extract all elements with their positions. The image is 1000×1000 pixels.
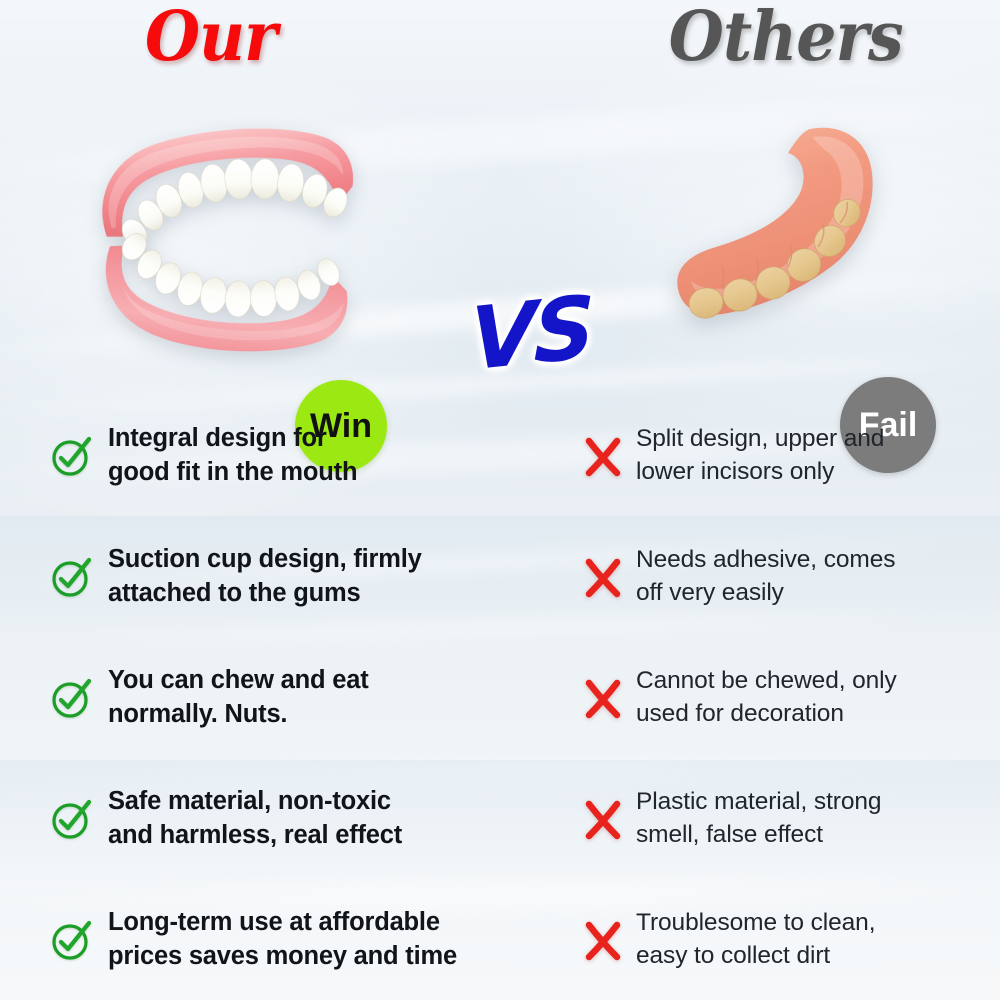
pro-cell: Suction cup design, firmly attached to t… [0, 516, 565, 637]
comparison-infographic: Our Others [0, 0, 1000, 1000]
pro-cell: Safe material, non-toxic and harmless, r… [0, 758, 565, 879]
check-circle-icon [48, 917, 94, 963]
header-our: Our [145, 2, 277, 73]
con-cell: Needs adhesive, comes off very easily [565, 516, 1000, 637]
vs-mark: VS [470, 284, 592, 383]
pro-text: Integral design for good fit in the mout… [108, 422, 357, 489]
cross-mark-icon [580, 433, 626, 479]
comparison-rows: Integral design for good fit in the mout… [0, 395, 1000, 1000]
cross-mark-icon [580, 675, 626, 721]
pro-text: Suction cup design, firmly attached to t… [108, 543, 422, 610]
hero-images: VS Win Fail [0, 95, 1000, 395]
con-text: Split design, upper and lower incisors o… [636, 423, 884, 489]
check-circle-icon [48, 675, 94, 721]
denture-lower-arch [84, 215, 358, 368]
con-text: Troublesome to clean, easy to collect di… [636, 907, 875, 973]
check-circle-icon [48, 796, 94, 842]
comparison-row: Integral design for good fit in the mout… [0, 395, 1000, 516]
pro-cell: You can chew and eat normally. Nuts. [0, 637, 565, 758]
pro-cell: Integral design for good fit in the mout… [0, 395, 565, 516]
cross-mark-icon [580, 796, 626, 842]
con-cell: Plastic material, strong smell, false ef… [565, 758, 1000, 879]
pro-cell: Long-term use at affordable prices saves… [0, 879, 565, 1000]
cross-mark-icon [580, 554, 626, 600]
cross-mark-icon [580, 917, 626, 963]
con-text: Cannot be chewed, only used for decorati… [636, 665, 897, 731]
con-cell: Cannot be chewed, only used for decorati… [565, 637, 1000, 758]
comparison-row: Suction cup design, firmly attached to t… [0, 516, 1000, 637]
comparison-row: You can chew and eat normally. Nuts. Can… [0, 637, 1000, 758]
check-circle-icon [48, 554, 94, 600]
product-image-others [660, 113, 900, 363]
comparison-row: Long-term use at affordable prices saves… [0, 879, 1000, 1000]
check-circle-icon [48, 433, 94, 479]
con-cell: Troublesome to clean, easy to collect di… [565, 879, 1000, 1000]
pro-text: You can chew and eat normally. Nuts. [108, 664, 369, 731]
comparison-row: Safe material, non-toxic and harmless, r… [0, 758, 1000, 879]
header-others: Others [669, 2, 903, 73]
product-image-our [80, 120, 370, 365]
pro-text: Long-term use at affordable prices saves… [108, 906, 457, 973]
con-text: Plastic material, strong smell, false ef… [636, 786, 881, 852]
con-cell: Split design, upper and lower incisors o… [565, 395, 1000, 516]
pro-text: Safe material, non-toxic and harmless, r… [108, 785, 402, 852]
headers: Our Others [0, 0, 1000, 95]
con-text: Needs adhesive, comes off very easily [636, 544, 895, 610]
